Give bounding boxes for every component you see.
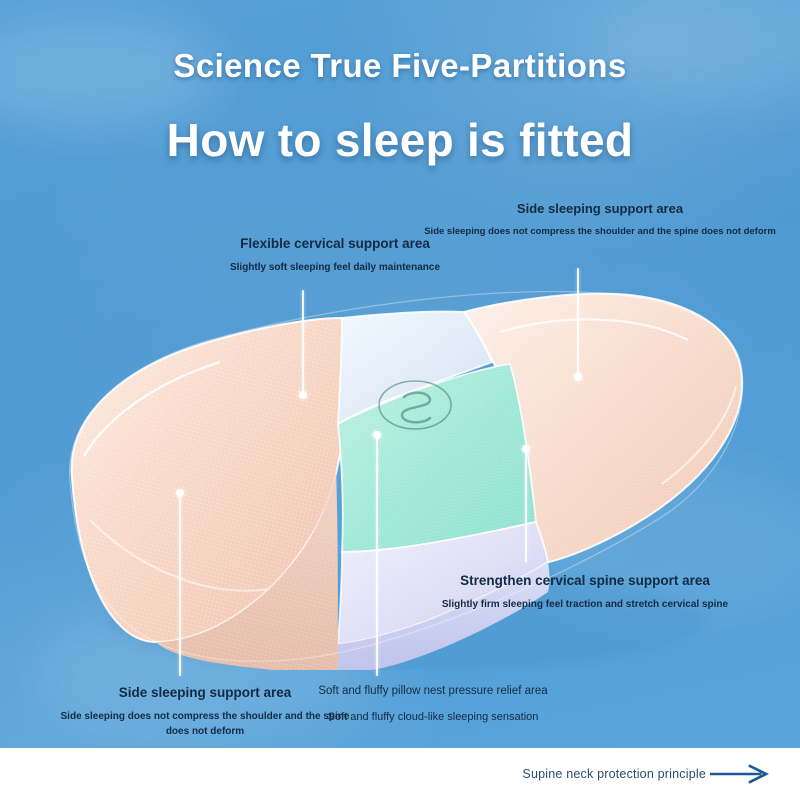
annotation-title: Strengthen cervical spine support area <box>420 572 750 590</box>
leader-dot-pillow-nest <box>373 431 381 439</box>
leader-line-flexible-cervical <box>302 290 304 394</box>
annotation-desc: Slightly soft sleeping feel daily mainte… <box>165 260 505 275</box>
leader-line-pillow-nest <box>376 436 378 676</box>
annotation-strengthen-cervical: Strengthen cervical spine support area S… <box>420 572 750 612</box>
infographic-canvas: Science True Five-Partitions How to slee… <box>0 0 800 800</box>
annotation-title: Side sleeping support area <box>60 684 350 702</box>
leader-line-side-left <box>179 494 181 676</box>
headline-primary: Science True Five-Partitions <box>0 47 800 85</box>
annotation-desc: Side sleeping does not compress the shou… <box>60 709 350 739</box>
annotation-title: Flexible cervical support area <box>165 235 505 253</box>
leader-line-strengthen-cervical <box>525 450 527 562</box>
annotation-side-sleeping-right: Side sleeping support area Side sleeping… <box>415 200 785 239</box>
annotation-flexible-cervical: Flexible cervical support area Slightly … <box>165 235 505 275</box>
leader-dot-side-right <box>574 373 582 381</box>
annotation-side-sleeping-left: Side sleeping support area Side sleeping… <box>60 684 350 739</box>
annotation-pillow-nest: Soft and fluffy pillow nest pressure rel… <box>318 684 548 725</box>
leader-dot-side-left <box>176 489 184 497</box>
leader-dot-flexible-cervical <box>299 391 307 399</box>
footer-bar: Supine neck protection principle <box>0 748 800 800</box>
footer-label: Supine neck protection principle <box>522 767 706 781</box>
arrow-right-icon[interactable] <box>710 764 772 784</box>
leader-dot-strengthen-cervical <box>522 445 530 453</box>
annotation-desc: Soft and fluffy cloud-like sleeping sens… <box>318 709 548 726</box>
headline-secondary: How to sleep is fitted <box>0 113 800 167</box>
annotation-title: Side sleeping support area <box>415 200 785 218</box>
annotation-desc: Slightly firm sleeping feel traction and… <box>420 597 750 612</box>
leader-line-side-right <box>577 268 579 376</box>
annotation-title: Soft and fluffy pillow nest pressure rel… <box>318 684 548 700</box>
